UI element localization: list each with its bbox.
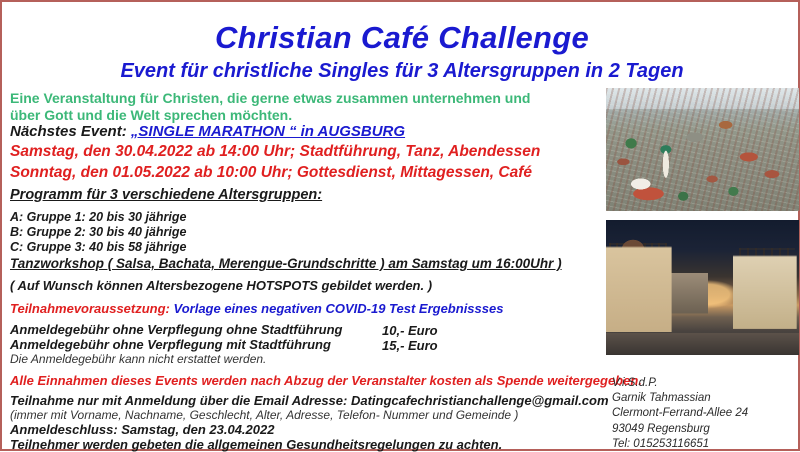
schedule-day-2: Sonntag, den 01.05.2022 ab 10:00 Uhr; Go… bbox=[10, 165, 532, 181]
imprint-line-3: Clermont-Ferrand-Allee 24 bbox=[612, 406, 748, 421]
imprint-line-2: Garnik Tahmassian bbox=[612, 391, 748, 406]
aerial-cityscape-photo bbox=[606, 88, 799, 211]
donation-note: Alle Einnahmen dieses Events werden nach… bbox=[10, 374, 642, 388]
next-event-row: Nächstes Event: „SINGLE MARATHON “ in AU… bbox=[10, 124, 405, 140]
aerial-photo-sky bbox=[606, 88, 799, 109]
covid-requirement-row: Teilnahmevoraussetzung: Vorlage eines ne… bbox=[10, 302, 503, 316]
intro-line-2: über Gott und die Welt sprechen möchten. bbox=[10, 107, 292, 123]
imprint-line-5: Tel: 015253116651 bbox=[612, 437, 748, 452]
age-group-b: B: Gruppe 2: 30 bis 40 jährige bbox=[10, 226, 186, 239]
event-flyer: Christian Café Challenge Event für chris… bbox=[0, 0, 800, 451]
next-event-value: „SINGLE MARATHON “ in AUGSBURG bbox=[131, 123, 405, 140]
email-registration-line: Teilnahme nur mit Anmeldung über die Ema… bbox=[10, 394, 609, 408]
page-subtitle: Event für christliche Singles für 3 Alte… bbox=[2, 60, 800, 83]
imprint-block: V.i.S.d.P. Garnik Tahmassian Clermont-Fe… bbox=[612, 376, 748, 452]
dance-workshop: Tanzworkshop ( Salsa, Bachata, Merengue-… bbox=[10, 257, 562, 271]
schedule-day-1: Samstag, den 30.04.2022 ab 14:00 Uhr; St… bbox=[10, 144, 540, 160]
age-group-c: C: Gruppe 3: 40 bis 58 jährige bbox=[10, 241, 186, 254]
fee-1-label: Anmeldegebühr ohne Verpflegung ohne Stad… bbox=[10, 323, 342, 337]
email-required-details: (immer mit Vorname, Nachname, Geschlecht… bbox=[10, 409, 518, 422]
covid-value: Vorlage eines negativen COVID-19 Test Er… bbox=[174, 301, 504, 316]
fee-2-price: 15,- Euro bbox=[382, 338, 438, 353]
health-regulations-note: Teilnehmer werden gebeten die allgemeine… bbox=[10, 438, 502, 452]
fee-2-label: Anmeldegebühr ohne Verpflegung mit Stadt… bbox=[10, 338, 331, 352]
intro-line-1: Eine Veranstaltung für Christen, die ger… bbox=[10, 90, 530, 106]
covid-label: Teilnahmevoraussetzung: bbox=[10, 301, 170, 316]
fee-note: Die Anmeldegebühr kann nicht erstattet w… bbox=[10, 353, 266, 366]
street-photo-body bbox=[606, 220, 799, 355]
registration-deadline: Anmeldeschluss: Samstag, den 23.04.2022 bbox=[10, 423, 274, 437]
fee-1-price: 10,- Euro bbox=[382, 323, 438, 338]
night-street-photo bbox=[606, 220, 799, 355]
next-event-label: Nächstes Event: bbox=[10, 123, 127, 140]
age-group-a: A: Gruppe 1: 20 bis 30 jährige bbox=[10, 211, 186, 224]
hotspots-note: ( Auf Wunsch können Altersbezogene HOTSP… bbox=[10, 279, 432, 293]
program-heading: Programm für 3 verschiedene Altersgruppe… bbox=[10, 188, 322, 203]
imprint-line-4: 93049 Regensburg bbox=[612, 422, 748, 437]
aerial-photo-body bbox=[606, 88, 799, 211]
imprint-line-1: V.i.S.d.P. bbox=[612, 376, 748, 391]
page-title: Christian Café Challenge bbox=[2, 20, 800, 56]
